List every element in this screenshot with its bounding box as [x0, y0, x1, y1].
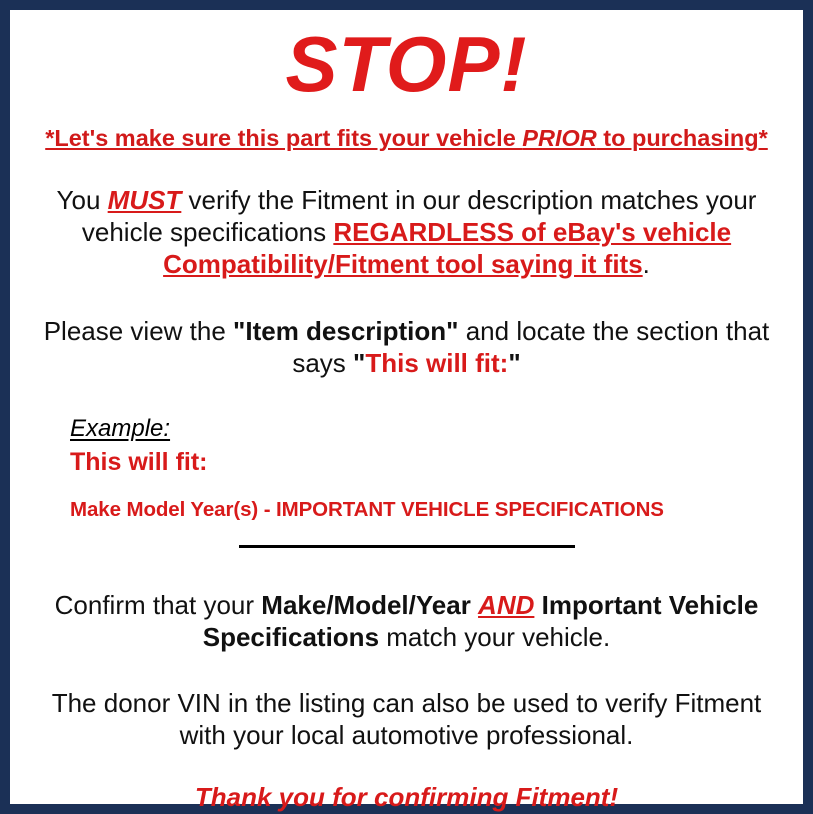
view-text-lead: Please view the	[44, 316, 233, 346]
paragraph-donor-vin: The donor VIN in the listing can also be…	[24, 687, 789, 751]
make-model-year-emphasis: Make/Model/Year	[261, 590, 478, 620]
example-label-row: Example:	[70, 415, 789, 443]
example-fit-heading: This will fit:	[70, 447, 789, 477]
paragraph-must-verify: You MUST verify the Fitment in our descr…	[24, 184, 789, 280]
example-spec-line: Make Model Year(s) - IMPORTANT VEHICLE S…	[70, 497, 789, 523]
subheading-prefix: *Let's make sure this part fits your veh…	[45, 125, 522, 151]
example-label: Example:	[70, 415, 170, 443]
this-will-fit-inline: This will fit:	[365, 348, 508, 378]
subheading-banner: *Let's make sure this part fits your veh…	[24, 124, 789, 152]
notice-content: STOP! *Let's make sure this part fits yo…	[10, 10, 803, 804]
confirm-text-lead: Confirm that your	[55, 590, 262, 620]
divider-wrap	[24, 545, 789, 557]
must-period: .	[643, 249, 650, 279]
subheading-emphasis: PRIOR	[522, 125, 596, 151]
closing-thank-you: Thank you for confirming Fitment!	[24, 781, 789, 813]
must-emphasis: MUST	[108, 185, 182, 215]
subheading-suffix: to purchasing*	[597, 125, 768, 151]
fitment-notice-card: STOP! *Let's make sure this part fits yo…	[0, 0, 813, 814]
confirm-text-tail: match your vehicle.	[379, 622, 610, 652]
page-title: STOP!	[24, 22, 789, 106]
must-text-lead: You	[57, 185, 108, 215]
quote-close: "	[508, 348, 520, 378]
section-divider	[239, 545, 575, 548]
example-block: Example: This will fit: Make Model Year(…	[24, 415, 789, 523]
quote-open: "	[353, 348, 365, 378]
and-emphasis: AND	[478, 590, 534, 620]
paragraph-view-description: Please view the "Item description" and l…	[24, 315, 789, 379]
paragraph-confirm: Confirm that your Make/Model/Year AND Im…	[24, 589, 789, 653]
item-description-label: "Item description"	[233, 316, 458, 346]
